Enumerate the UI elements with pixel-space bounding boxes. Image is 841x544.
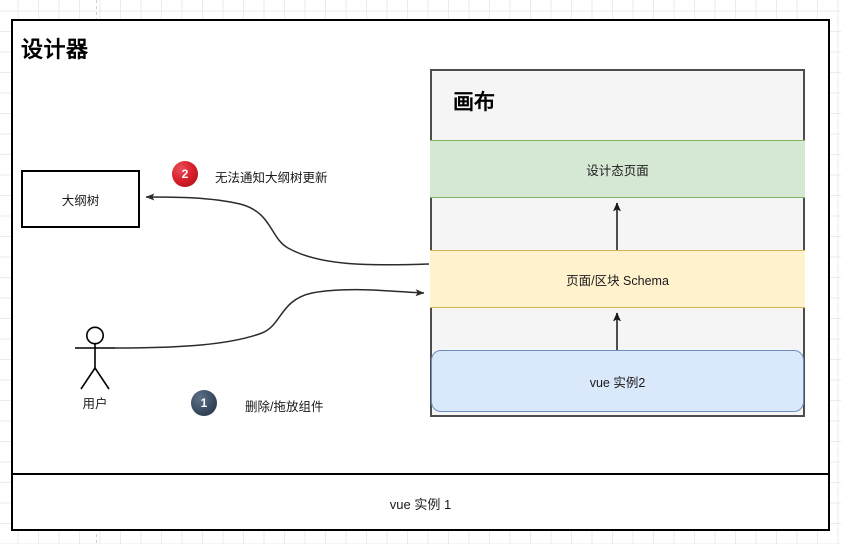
step-badge-2: 2 [172, 161, 198, 187]
canvas-band-schema-label: 页面/区块 Schema [566, 270, 669, 289]
canvas-band-vue-instance-2[interactable]: vue 实例2 [431, 350, 804, 412]
designer-title: 设计器 [21, 32, 89, 64]
step-badge-1-number: 1 [201, 396, 208, 410]
step-badge-1: 1 [191, 390, 217, 416]
canvas-band-vue-instance-2-label: vue 实例2 [590, 372, 646, 391]
step-badge-2-number: 2 [182, 167, 189, 181]
canvas-band-design-page[interactable]: 设计态页面 [430, 140, 805, 198]
canvas-band-design-page-label: 设计态页面 [586, 160, 649, 179]
canvas-band-schema[interactable]: 页面/区块 Schema [430, 250, 805, 308]
step-label-1: 删除/拖放组件 [245, 396, 323, 415]
vue-instance-1-label: vue 实例 1 [11, 494, 830, 513]
outline-tree-label: 大纲树 [62, 190, 100, 209]
frame-divider [11, 473, 830, 475]
canvas-title: 画布 [453, 86, 495, 116]
user-actor-label: 用户 [60, 393, 130, 412]
outline-tree-box[interactable]: 大纲树 [21, 170, 140, 228]
step-label-2: 无法通知大纲树更新 [215, 167, 328, 186]
